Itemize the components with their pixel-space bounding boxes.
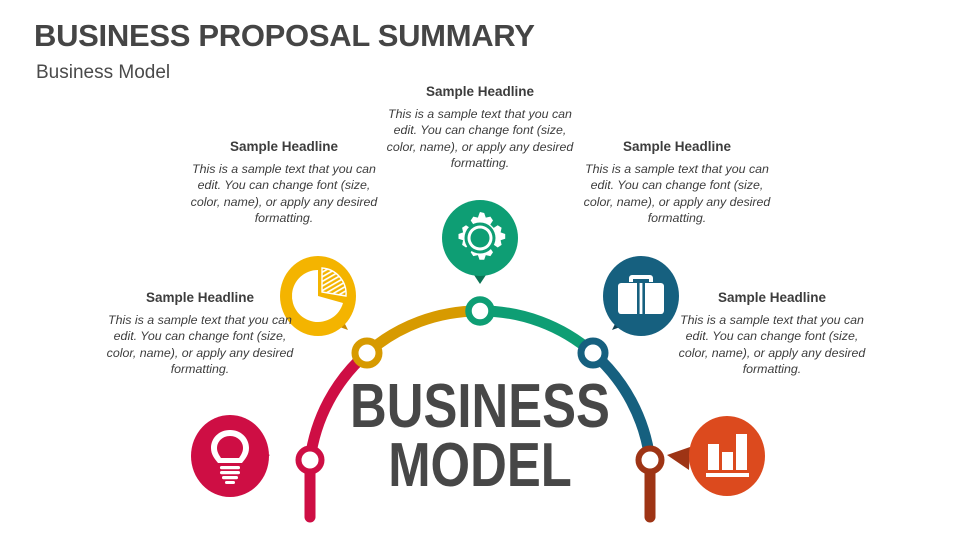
body-lightbulb: This is a sample text that you can edit.… [105, 312, 295, 378]
arc-segment-amber [367, 311, 480, 353]
text-block-bar-chart: Sample Headline This is a sample text th… [677, 290, 867, 378]
text-block-lightbulb: Sample Headline This is a sample text th… [105, 290, 295, 378]
body-pie-chart: This is a sample text that you can edit.… [189, 161, 379, 227]
arc-node-ring-teal[interactable] [581, 341, 605, 365]
text-block-briefcase: Sample Headline This is a sample text th… [582, 139, 772, 227]
headline-bar-chart: Sample Headline [677, 290, 867, 307]
icon-badge-briefcase[interactable] [603, 256, 679, 336]
headline-gear: Sample Headline [380, 84, 580, 101]
center-wordmark: BUSINESS MODEL [86, 378, 873, 496]
wordmark-line-1: BUSINESS [86, 378, 873, 437]
icon-badge-gear[interactable] [442, 200, 518, 284]
arc-node-ring-amber[interactable] [355, 341, 379, 365]
headline-pie-chart: Sample Headline [189, 139, 379, 156]
slide-canvas: BUSINESS PROPOSAL SUMMARY Business Model [0, 0, 960, 540]
body-briefcase: This is a sample text that you can edit.… [582, 161, 772, 227]
headline-briefcase: Sample Headline [582, 139, 772, 156]
text-block-gear: Sample Headline This is a sample text th… [380, 84, 580, 172]
wordmark-line-2: MODEL [86, 437, 873, 496]
arc-segment-green [480, 311, 593, 353]
arc-node-ring-green[interactable] [469, 300, 492, 323]
text-block-pie-chart: Sample Headline This is a sample text th… [189, 139, 379, 227]
body-gear: This is a sample text that you can edit.… [380, 106, 580, 172]
headline-lightbulb: Sample Headline [105, 290, 295, 307]
body-bar-chart: This is a sample text that you can edit.… [677, 312, 867, 378]
